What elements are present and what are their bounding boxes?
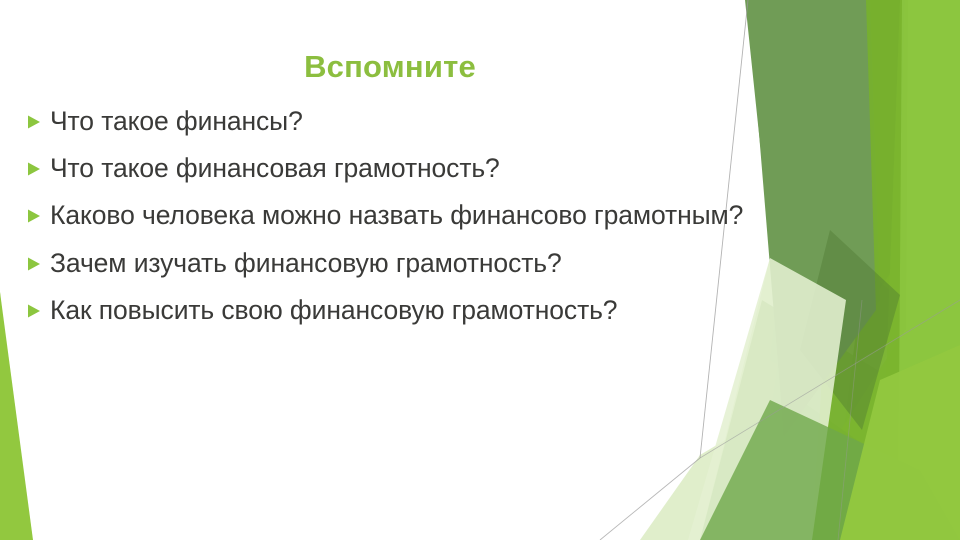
green-sweep-bottom — [700, 400, 960, 540]
triangle-right-bullet-icon — [26, 303, 42, 319]
deep-notch — [800, 230, 900, 430]
triangle-right-bullet-icon — [26, 256, 42, 272]
light-sweep-bottom-right — [840, 345, 960, 540]
bright-facet-right — [880, 0, 960, 540]
triangle-right-bullet-icon — [26, 208, 42, 224]
list-item-label: Зачем изучать финансовую грамотность? — [50, 246, 756, 281]
list-item: Каково человека можно назвать финансово … — [26, 198, 756, 233]
triangle-right-bullet-icon — [26, 114, 42, 130]
list-item: Как повысить свою финансовую грамотность… — [26, 293, 756, 328]
hairline-vertical-inner — [838, 300, 862, 540]
list-item-label: Каково человека можно назвать финансово … — [50, 198, 756, 233]
slide-canvas: Вспомните Что такое финансы? Что такое ф… — [0, 0, 960, 540]
list-item: Зачем изучать финансовую грамотность? — [26, 246, 756, 281]
hairline-diagonal-bottom — [600, 458, 700, 540]
list-item: Что такое финансы? — [26, 104, 756, 139]
bright-facet-inner — [812, 0, 902, 540]
triangle-right-bullet-icon — [26, 161, 42, 177]
right-band-light — [800, 0, 960, 540]
mid-green-lower-left — [700, 400, 900, 540]
olive-triangle-upper-right — [860, 0, 905, 300]
list-item-label: Как повысить свою финансовую грамотность… — [50, 293, 756, 328]
slide-title: Вспомните — [0, 50, 780, 85]
deep-green-wedge — [770, 200, 900, 420]
mid-green-diagonal — [770, 300, 960, 540]
list-item-label: Что такое финансы? — [50, 104, 756, 139]
bullet-list: Что такое финансы? Что такое финансовая … — [26, 104, 756, 340]
list-item: Что такое финансовая грамотность? — [26, 151, 756, 186]
list-item-label: Что такое финансовая грамотность? — [50, 151, 756, 186]
